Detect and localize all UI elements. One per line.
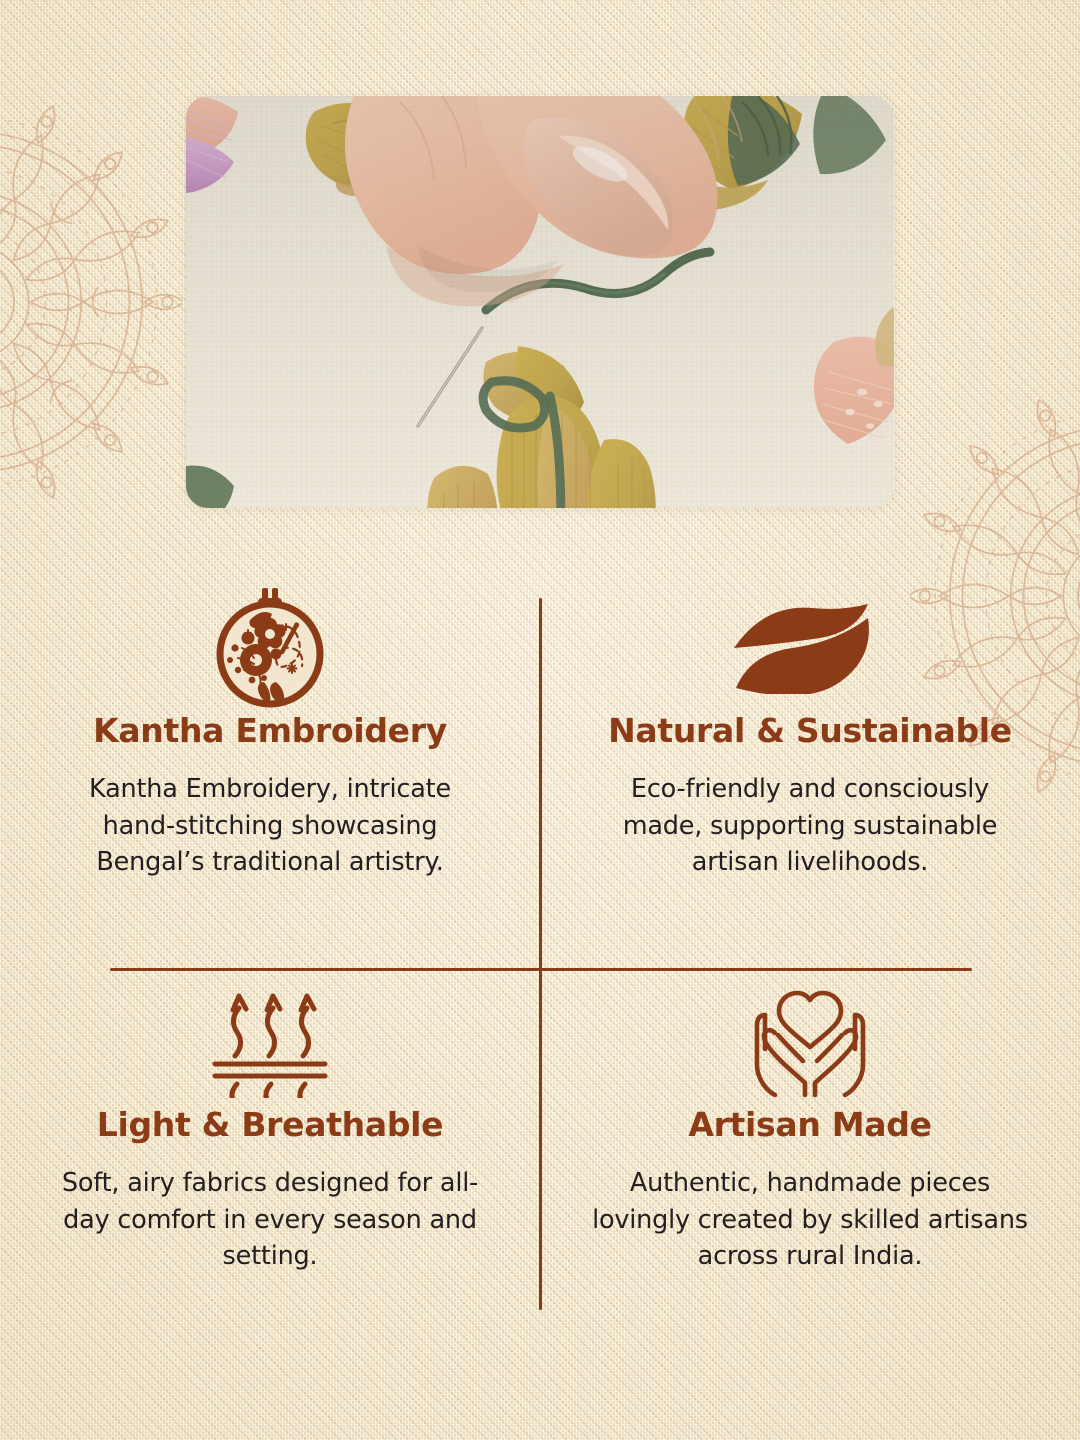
feature-card-kantha-embroidery: Kantha Embroidery Kantha Embroidery, int… xyxy=(20,589,520,880)
feature-card-natural-sustainable: Natural & Sustainable Eco-friendly and c… xyxy=(560,589,1060,880)
mandala-ornament-left xyxy=(0,92,182,512)
feature-grid: Kantha Embroidery Kantha Embroidery, int… xyxy=(0,575,1080,1335)
feature-title: Light & Breathable xyxy=(20,1107,520,1143)
leaf-icon xyxy=(560,589,1060,707)
feature-card-light-breathable: Light & Breathable Soft, airy fabrics de… xyxy=(20,983,520,1274)
divider-vertical xyxy=(539,598,542,1310)
feature-title: Artisan Made xyxy=(560,1107,1060,1143)
feature-title: Natural & Sustainable xyxy=(560,713,1060,749)
kantha-embroidery-photo xyxy=(186,96,894,508)
embroidery-hoop-icon xyxy=(20,589,520,707)
feature-description: Soft, airy fabrics designed for all-day … xyxy=(50,1165,490,1274)
feature-description: Authentic, handmade pieces lovingly crea… xyxy=(590,1165,1030,1274)
breathable-fabric-icon xyxy=(20,983,520,1101)
feature-card-artisan-made: Artisan Made Authentic, handmade pieces … xyxy=(560,983,1060,1274)
hands-holding-heart-icon xyxy=(560,983,1060,1101)
divider-horizontal xyxy=(110,968,972,971)
feature-description: Eco-friendly and consciously made, suppo… xyxy=(600,771,1020,880)
feature-title: Kantha Embroidery xyxy=(20,713,520,749)
feature-description: Kantha Embroidery, intricate hand-stitch… xyxy=(60,771,480,880)
